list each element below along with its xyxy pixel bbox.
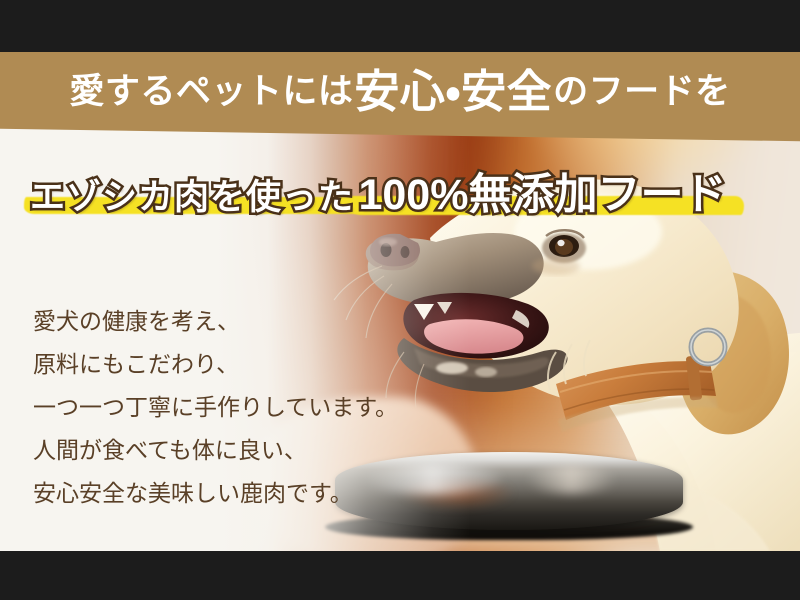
body-copy: 愛犬の健康を考え、 原料にもこだわり、 一つ一つ丁寧に手作りしています。 人間が… [33, 300, 398, 515]
headline-line-2: 100%無添加フード [358, 174, 726, 217]
headline-line-1: エゾシカ肉を使った [30, 180, 354, 215]
headline-line-1-text: エゾシカ肉を使った [30, 180, 354, 215]
header-banner-text: 愛するペットには安心・安全のフードを [0, 52, 800, 130]
headline-line-2-text: 100%無添加フード [358, 174, 726, 217]
body-copy-line: 人間が食べても体に良い、 [33, 429, 398, 472]
body-copy-line: 原料にもこだわり、 [33, 343, 398, 386]
banner-canvas: 愛するペットには安心・安全のフードを エゾシカ肉を使った 100%無添加フード … [0, 0, 800, 600]
body-copy-line: 一つ一つ丁寧に手作りしています。 [33, 386, 398, 429]
header-text-emphasis: 安心・安全 [354, 69, 552, 114]
header-text-part-c: のフードを [553, 74, 731, 109]
letterbox-top [0, 0, 800, 52]
headline-block: エゾシカ肉を使った 100%無添加フード [30, 168, 726, 217]
letterbox-bottom [0, 551, 800, 600]
body-copy-line: 安心安全な美味しい鹿肉です。 [33, 472, 398, 515]
header-text-part-a: 愛するペットには [69, 74, 353, 109]
body-copy-line: 愛犬の健康を考え、 [33, 300, 398, 343]
